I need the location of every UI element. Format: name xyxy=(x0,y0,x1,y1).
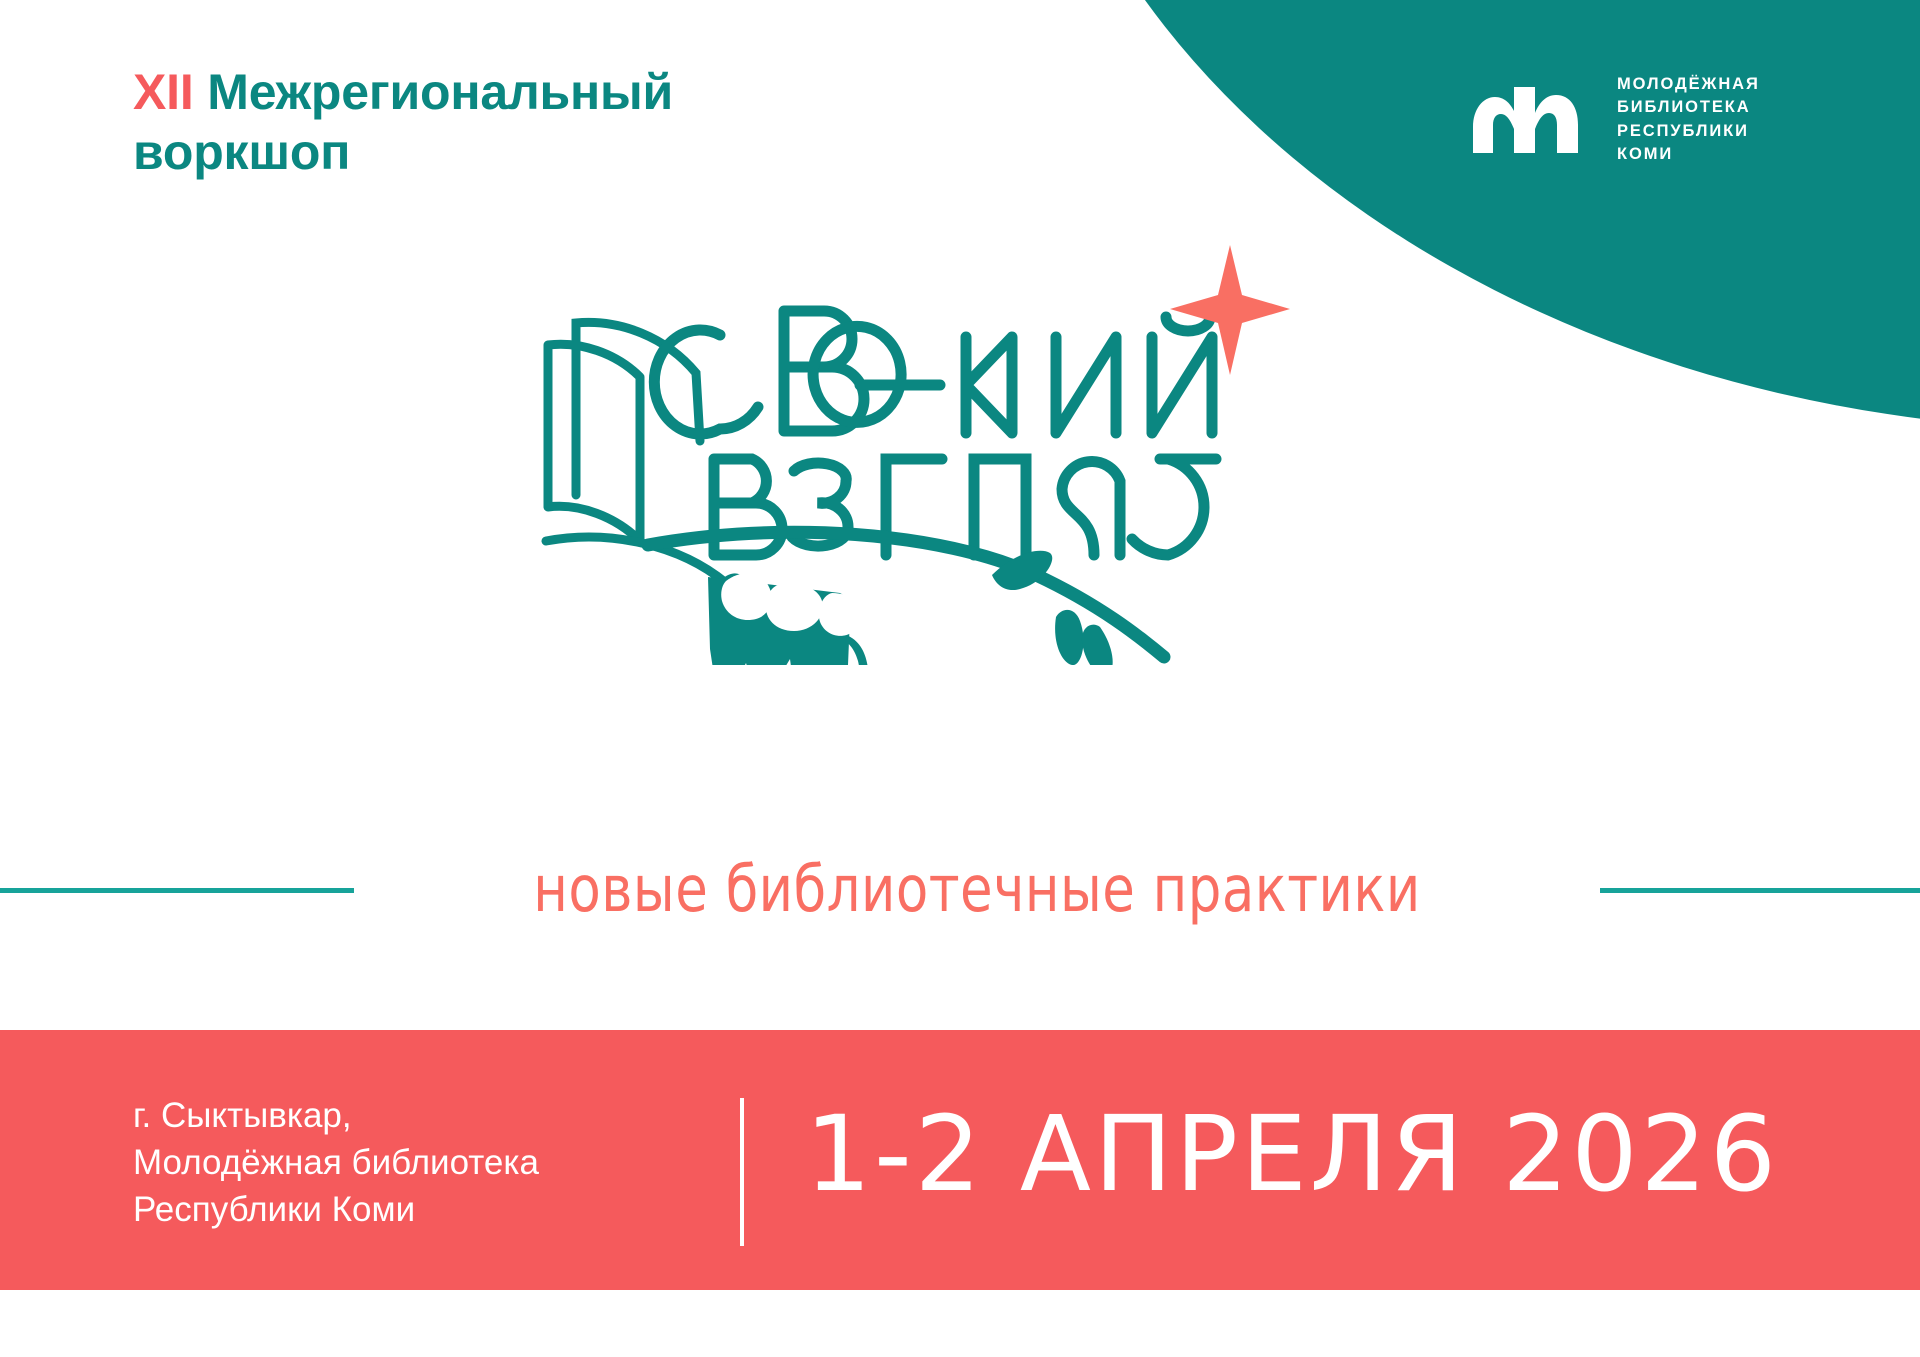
tagline-text: новые библиотечные практики xyxy=(404,853,1550,927)
event-date: 1-2 АПРЕЛЯ 2026 xyxy=(805,1097,1779,1211)
library-m-logo-icon xyxy=(1473,83,1591,157)
divider-rule-left xyxy=(0,888,354,893)
brand-lockup: МОЛОДЁЖНАЯ БИБЛИОТЕКА РЕСПУБЛИКИ КОМИ xyxy=(1473,73,1760,167)
brand-name: МОЛОДЁЖНАЯ БИБЛИОТЕКА РЕСПУБЛИКИ КОМИ xyxy=(1617,73,1760,167)
brand-line-4: КОМИ xyxy=(1617,143,1760,166)
brand-line-1: МОЛОДЁЖНАЯ xyxy=(1617,73,1760,96)
venue-address: г. Сыктывкар, Молодёжная библиотека Респ… xyxy=(133,1093,539,1234)
brand-line-2: БИБЛИОТЕКА xyxy=(1617,96,1760,119)
banner-vertical-divider xyxy=(740,1098,744,1246)
divider-rule-right xyxy=(1600,888,1920,893)
page-title: XII Межрегиональный воркшоп xyxy=(133,62,893,182)
page-title-text: Межрегиональный воркшоп xyxy=(133,64,673,180)
event-emblem xyxy=(540,245,1400,665)
roman-numeral: XII xyxy=(133,64,194,120)
poster-canvas: XII Межрегиональный воркшоп МОЛОДЁЖНАЯ Б… xyxy=(0,0,1920,1357)
tagline-row: новые библиотечные практики xyxy=(0,845,1920,935)
brand-line-3: РЕСПУБЛИКИ xyxy=(1617,120,1760,143)
